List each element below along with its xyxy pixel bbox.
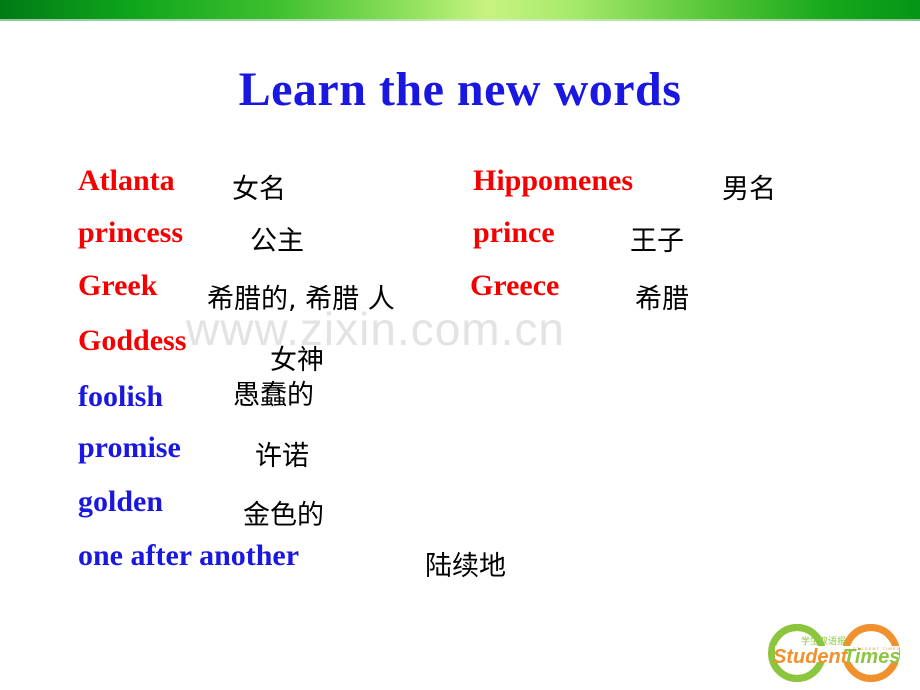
logo-chinese-tagline: 学生双语报 — [801, 635, 846, 647]
vocab-translation-greece: 希腊 — [635, 277, 689, 316]
vocab-word-atlanta: Atlanta — [78, 164, 175, 198]
vocab-word-goddess: Goddess — [78, 324, 186, 358]
vocab-translation-prince: 王子 — [630, 219, 684, 258]
vocab-word-golden: golden — [78, 485, 163, 519]
logo-text-student: Student — [773, 646, 849, 668]
vocab-word-princess: princess — [78, 216, 183, 250]
vocab-translation-promise: 许诺 — [255, 434, 309, 473]
vocab-translation-foolish: 愚蠢的 — [233, 373, 314, 412]
vocab-translation-goddess: 女神 — [270, 338, 324, 377]
top-banner-edge — [0, 19, 920, 21]
vocab-word-greek: Greek — [78, 269, 157, 303]
vocab-word-promise: promise — [78, 431, 181, 465]
vocab-translation-princess: 公主 — [250, 219, 304, 258]
logo-small-tagline: STUDENT TIMES — [853, 646, 901, 651]
vocab-word-foolish: foolish — [78, 380, 163, 414]
top-green-banner — [0, 0, 920, 19]
vocab-word-greece: Greece — [470, 269, 559, 303]
vocab-translation-golden: 金色的 — [243, 493, 324, 532]
vocab-translation-hippomenes: 男名 — [722, 167, 776, 206]
student-times-logo: Student Times 学生双语报 STUDENT TIMES — [757, 622, 915, 684]
vocab-word-hippomenes: Hippomenes — [473, 164, 633, 198]
vocab-translation-greek: 希腊的, 希腊 人 — [207, 277, 395, 316]
vocab-translation-one-after-another: 陆续地 — [425, 544, 506, 583]
slide-canvas: www.zixin.com.cn Learn the new words Atl… — [0, 0, 920, 690]
page-title: Learn the new words — [0, 62, 920, 117]
vocabulary-list: Atlanta 女名 Hippomenes 男名 princess 公主 pri… — [0, 160, 920, 590]
logo-graphic: Student Times 学生双语报 STUDENT TIMES — [757, 622, 915, 684]
vocab-translation-atlanta: 女名 — [232, 167, 286, 206]
vocab-word-prince: prince — [473, 216, 555, 250]
vocab-word-one-after-another: one after another — [78, 539, 299, 573]
